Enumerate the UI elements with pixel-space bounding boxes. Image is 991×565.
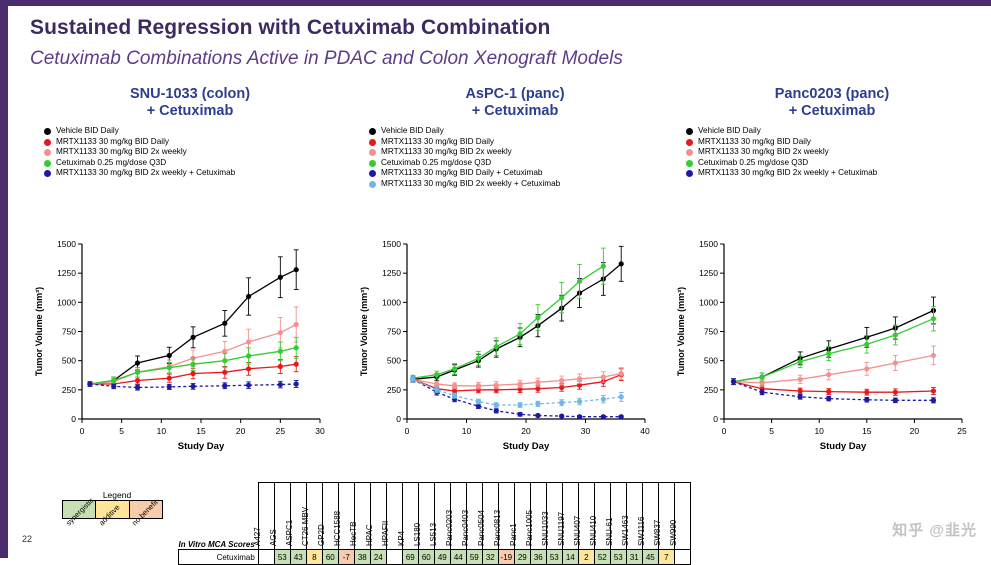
mca-cell: 24 [370,550,386,565]
svg-text:20: 20 [910,426,920,436]
legend-marker-icon [365,137,379,146]
mca-cell [258,550,274,565]
legend-item-label: Vehicle BID Daily [54,126,119,136]
left-accent-bar [0,0,8,558]
mca-cell: 38 [354,550,370,565]
svg-text:0: 0 [713,414,718,424]
legend-item-label: MRTX1133 30 mg/kg BID Daily [696,137,811,147]
svg-text:750: 750 [704,327,718,337]
legend-item: Cetuximab 0.25 mg/dose Q3D [40,158,350,168]
chart-panel-panc0203: Panc0203 (panc) + Cetuximab Vehicle BID … [672,86,991,466]
svg-text:Tumor Volume (mm³): Tumor Volume (mm³) [34,287,44,376]
svg-text:500: 500 [62,356,76,366]
mca-cell: 14 [562,550,578,565]
legend-item: MRTX1133 30 mg/kg BID 2x weekly + Cetuxi… [682,168,991,178]
svg-text:10: 10 [462,426,472,436]
legend-item: Vehicle BID Daily [682,126,991,136]
svg-text:0: 0 [396,414,401,424]
svg-text:10: 10 [814,426,824,436]
legend-item-label: Cetuximab 0.25 mg/dose Q3D [54,158,166,168]
mca-cell: 49 [434,550,450,565]
chart-panel-aspc1: AsPC-1 (panc) + Cetuximab Vehicle BID Da… [355,86,675,466]
legend-marker-icon [682,137,696,146]
legend-aspc1: Vehicle BID DailyMRTX1133 30 mg/kg BID D… [365,126,675,188]
chart-panel-snu1033: SNU-1033 (colon) + Cetuximab Vehicle BID… [30,86,350,466]
plot-aspc1: 0250500750100012501500010203040Study Day… [355,236,675,466]
legend-panc0203: Vehicle BID DailyMRTX1133 30 mg/kg BID D… [682,126,991,178]
mca-cell: 43 [290,550,306,565]
svg-text:250: 250 [62,385,76,395]
svg-text:1000: 1000 [57,297,76,307]
legend-marker-icon [40,158,54,167]
svg-text:0: 0 [80,426,85,436]
svg-text:500: 500 [704,356,718,366]
mca-cell: 60 [322,550,338,565]
svg-text:250: 250 [387,385,401,395]
legend-item-label: MRTX1133 30 mg/kg BID Daily [379,137,494,147]
svg-text:25: 25 [276,426,286,436]
mca-cell: 44 [450,550,466,565]
svg-text:Tumor Volume (mm³): Tumor Volume (mm³) [359,287,369,376]
svg-text:5: 5 [769,426,774,436]
legend-item-label: MRTX1133 30 mg/kg BID Daily + Cetuximab [379,168,542,178]
legend-marker-icon [365,168,379,177]
svg-text:30: 30 [315,426,325,436]
svg-text:0: 0 [405,426,410,436]
svg-text:Study Day: Study Day [503,441,550,452]
legend-marker-icon [682,126,696,135]
plot-snu1033: 0250500750100012501500051015202530Study … [30,236,350,466]
legend-item: MRTX1133 30 mg/kg BID 2x weekly [365,147,675,157]
plot-panc0203: 02505007501000125015000510152025Study Da… [672,236,991,466]
legend-item-label: Vehicle BID Daily [379,126,444,136]
table-row: In Vitro MCA ScoresA427AGSASPC1CT26 MBVG… [179,483,691,550]
legend-item: Vehicle BID Daily [365,126,675,136]
legend-item-label: MRTX1133 30 mg/kg BID 2x weekly [379,147,512,157]
svg-text:10: 10 [157,426,167,436]
legend-marker-icon [365,147,379,156]
svg-text:750: 750 [62,327,76,337]
svg-text:15: 15 [196,426,206,436]
panel-title-aspc1: AsPC-1 (panc) + Cetuximab [355,86,675,120]
legend-item: MRTX1133 30 mg/kg BID Daily [365,137,675,147]
page-subtitle: Cetuximab Combinations Active in PDAC an… [30,48,623,70]
svg-text:250: 250 [704,385,718,395]
svg-text:Tumor Volume (mm³): Tumor Volume (mm³) [676,287,686,376]
svg-text:1000: 1000 [382,297,401,307]
legend-snu1033: Vehicle BID DailyMRTX1133 30 mg/kg BID D… [40,126,350,178]
legend-marker-icon [682,168,696,177]
legend-item: MRTX1133 30 mg/kg BID 2x weekly [682,147,991,157]
page-number: 22 [22,534,32,544]
svg-text:20: 20 [521,426,531,436]
score-legend-title: Legend [62,490,172,500]
mca-cell: 31 [626,550,642,565]
legend-item: MRTX1133 30 mg/kg BID 2x weekly + Cetuxi… [40,168,350,178]
legend-marker-icon [682,147,696,156]
mca-cell: -19 [498,550,514,565]
table-row: Cetuximab5343860-73824696049445932-19293… [179,550,691,565]
svg-text:1250: 1250 [57,268,76,278]
legend-item: MRTX1133 30 mg/kg BID Daily [40,137,350,147]
legend-marker-icon [365,126,379,135]
svg-text:15: 15 [862,426,872,436]
legend-marker-icon [40,137,54,146]
legend-marker-icon [40,147,54,156]
legend-marker-icon [40,168,54,177]
svg-text:500: 500 [387,356,401,366]
legend-item-label: MRTX1133 30 mg/kg BID Daily [54,137,169,147]
legend-item-label: MRTX1133 30 mg/kg BID 2x weekly [696,147,829,157]
mca-cell: 45 [642,550,658,565]
legend-item-label: Cetuximab 0.25 mg/dose Q3D [696,158,808,168]
legend-marker-icon [40,126,54,135]
score-legend-labels: synergisticadditiveno benefit [62,519,172,553]
page-title: Sustained Regression with Cetuximab Comb… [30,16,550,40]
legend-item-label: MRTX1133 30 mg/kg BID 2x weekly + Cetuxi… [379,179,560,189]
mca-cell: 7 [658,550,674,565]
mca-cell: 32 [482,550,498,565]
mca-cell [386,550,402,565]
svg-text:1250: 1250 [699,268,718,278]
svg-text:1500: 1500 [382,239,401,249]
legend-item-label: MRTX1133 30 mg/kg BID 2x weekly [54,147,187,157]
svg-text:25: 25 [957,426,967,436]
legend-item: Cetuximab 0.25 mg/dose Q3D [365,158,675,168]
top-accent-bar [0,0,991,6]
panel-title-snu1033: SNU-1033 (colon) + Cetuximab [30,86,350,120]
legend-marker-icon [365,179,379,188]
legend-item: Cetuximab 0.25 mg/dose Q3D [682,158,991,168]
mca-cell: 53 [274,550,290,565]
legend-item-label: MRTX1133 30 mg/kg BID 2x weekly + Cetuxi… [696,168,877,178]
svg-text:0: 0 [722,426,727,436]
mca-cell: -7 [338,550,354,565]
mca-row-header: In Vitro MCA Scores [179,483,259,550]
mca-cell: 52 [594,550,610,565]
mca-cell: 60 [418,550,434,565]
svg-text:5: 5 [119,426,124,436]
mca-cell: 36 [530,550,546,565]
svg-text:30: 30 [581,426,591,436]
mca-column-header: SW990 [674,483,690,550]
svg-text:750: 750 [387,327,401,337]
legend-item: MRTX1133 30 mg/kg BID Daily + Cetuximab [365,168,675,178]
mca-cell: 29 [514,550,530,565]
mca-row-label: Cetuximab [179,550,259,565]
mca-cell: 8 [306,550,322,565]
legend-item: Vehicle BID Daily [40,126,350,136]
legend-marker-icon [365,158,379,167]
mca-cell: 53 [610,550,626,565]
svg-text:0: 0 [71,414,76,424]
legend-item-label: Vehicle BID Daily [696,126,761,136]
svg-text:20: 20 [236,426,246,436]
mca-cell: 59 [466,550,482,565]
mca-cell [674,550,690,565]
legend-item: MRTX1133 30 mg/kg BID 2x weekly + Cetuxi… [365,179,675,189]
watermark: 知乎 @韭光 [892,519,977,540]
svg-text:1000: 1000 [699,297,718,307]
svg-text:Study Day: Study Day [178,441,225,452]
svg-text:1500: 1500 [699,239,718,249]
svg-text:1500: 1500 [57,239,76,249]
mca-cell: 69 [402,550,418,565]
legend-item-label: MRTX1133 30 mg/kg BID 2x weekly + Cetuxi… [54,168,235,178]
mca-cell: 2 [578,550,594,565]
legend-item: MRTX1133 30 mg/kg BID Daily [682,137,991,147]
legend-item-label: Cetuximab 0.25 mg/dose Q3D [379,158,491,168]
svg-text:Study Day: Study Day [820,441,867,452]
panel-title-panc0203: Panc0203 (panc) + Cetuximab [672,86,991,120]
score-legend: Legend synergisticadditiveno benefit [62,490,172,553]
mca-cell: 53 [546,550,562,565]
legend-item: MRTX1133 30 mg/kg BID 2x weekly [40,147,350,157]
svg-text:40: 40 [640,426,650,436]
svg-text:1250: 1250 [382,268,401,278]
legend-marker-icon [682,158,696,167]
